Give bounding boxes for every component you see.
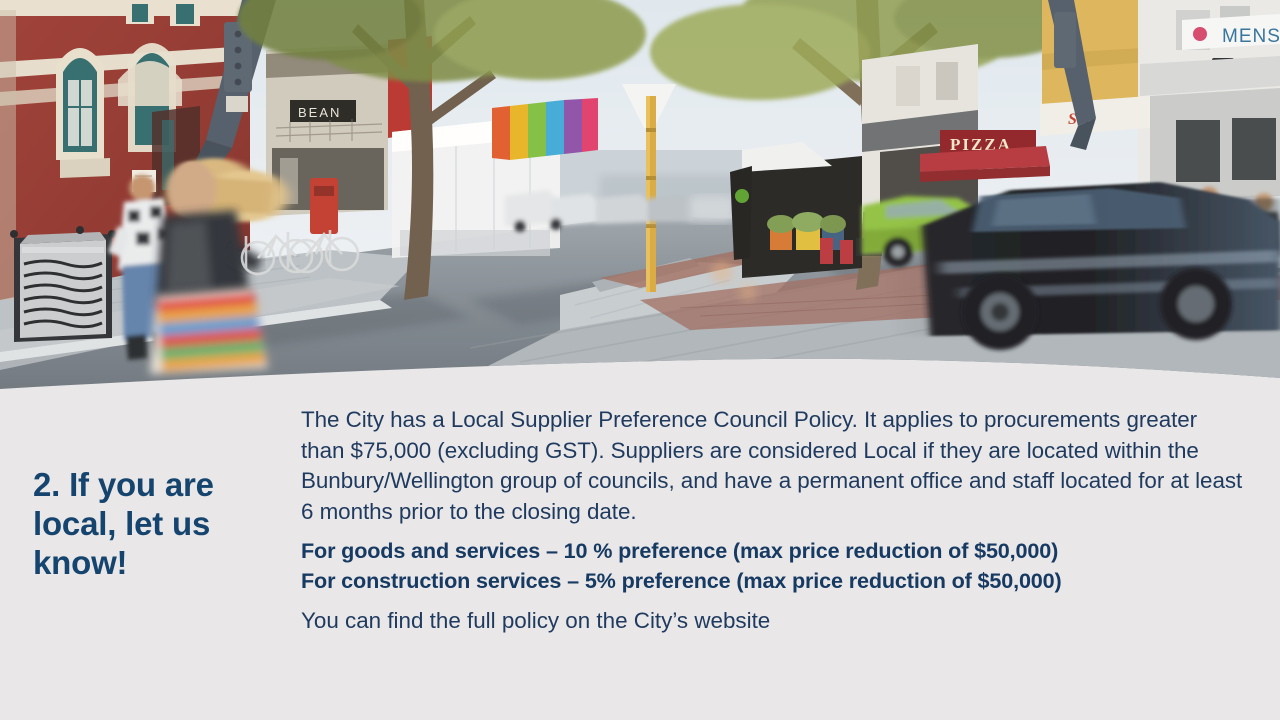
title-line-1: 2. If you are bbox=[33, 466, 278, 505]
slide-title: 2. If you are local, let us know! bbox=[33, 466, 278, 583]
title-line-2: local, let us bbox=[33, 505, 278, 544]
slide-root: BEAN bbox=[0, 0, 1280, 720]
construction-services-preference: For construction services – 5% preferenc… bbox=[301, 566, 1246, 595]
policy-website-note: You can find the full policy on the City… bbox=[301, 605, 1246, 636]
hero-illustration: BEAN bbox=[0, 0, 1280, 400]
hero-street-photo: BEAN bbox=[0, 0, 1280, 400]
goods-services-preference: For goods and services – 10 % preference… bbox=[301, 536, 1246, 565]
policy-paragraph: The City has a Local Supplier Preference… bbox=[301, 405, 1246, 527]
slide-body: The City has a Local Supplier Preference… bbox=[301, 405, 1246, 636]
preference-rates: For goods and services – 10 % preference… bbox=[301, 536, 1246, 595]
title-line-3: know! bbox=[33, 544, 278, 583]
